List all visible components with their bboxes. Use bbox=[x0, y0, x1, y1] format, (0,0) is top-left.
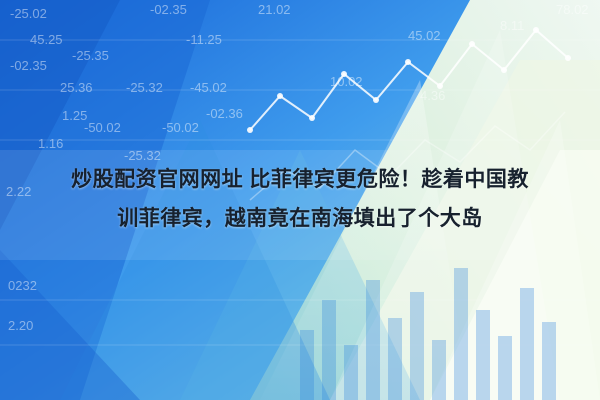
svg-text:-50.02: -50.02 bbox=[84, 120, 121, 135]
svg-text:-11.25: -11.25 bbox=[186, 32, 222, 47]
svg-text:-50.02: -50.02 bbox=[162, 120, 199, 135]
svg-text:21.02: 21.02 bbox=[258, 2, 291, 17]
svg-text:10.02: 10.02 bbox=[330, 74, 363, 89]
headline-line-2: 训菲律宾，越南竟在南海填出了个大岛 bbox=[14, 199, 586, 238]
svg-text:25.36: 25.36 bbox=[60, 80, 93, 95]
svg-text:-25.32: -25.32 bbox=[126, 80, 163, 95]
news-banner-image: -25.02 -02.35 21.02 45.02 10.02 8.11 78.… bbox=[0, 0, 600, 400]
svg-text:-45.02: -45.02 bbox=[190, 80, 227, 95]
svg-text:-02.35: -02.35 bbox=[10, 58, 47, 73]
svg-text:1.16: 1.16 bbox=[38, 136, 63, 151]
svg-text:0232: 0232 bbox=[8, 278, 37, 293]
svg-text:8.11: 8.11 bbox=[500, 18, 524, 33]
svg-text:-25.02: -25.02 bbox=[10, 6, 47, 21]
svg-text:4.36: 4.36 bbox=[420, 88, 445, 103]
headline-line-1: 炒股配资官网网址 比菲律宾更危险！趁着中国教 bbox=[14, 160, 586, 199]
svg-text:45.25: 45.25 bbox=[30, 32, 63, 47]
headline-text: 炒股配资官网网址 比菲律宾更危险！趁着中国教 训菲律宾，越南竟在南海填出了个大岛 bbox=[0, 160, 600, 238]
svg-text:45.02: 45.02 bbox=[408, 28, 441, 43]
svg-text:78.02: 78.02 bbox=[556, 2, 589, 17]
svg-text:2.20: 2.20 bbox=[8, 318, 33, 333]
svg-text:-25.35: -25.35 bbox=[72, 48, 109, 63]
svg-text:-02.36: -02.36 bbox=[206, 106, 243, 121]
svg-text:-02.35: -02.35 bbox=[150, 2, 187, 17]
